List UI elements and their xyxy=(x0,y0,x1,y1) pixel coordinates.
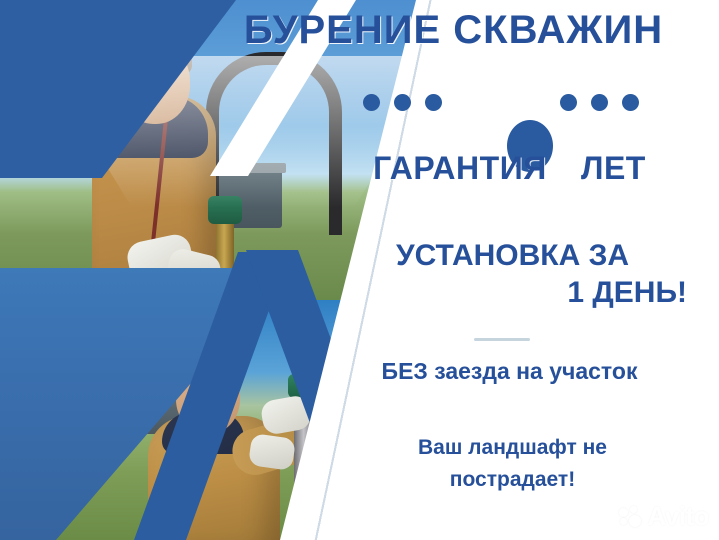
guarantee-suffix: ЛЕТ xyxy=(581,150,646,186)
text-panel: БУРЕНИЕ СКВАЖИН ГАРАНТИЯ5ЛЕТ УСТАНОВКА З… xyxy=(300,0,719,540)
photo-top-ear xyxy=(114,78,129,98)
dots-group-right xyxy=(560,94,639,111)
install-block: УСТАНОВКА ЗА 1 ДЕНЬ! xyxy=(330,238,695,311)
dot-icon xyxy=(425,94,442,111)
install-line-1: УСТАНОВКА ЗА xyxy=(396,239,629,272)
landscape-block: Ваш ландшафт не пострадает! xyxy=(340,432,685,495)
dot-icon xyxy=(394,94,411,111)
dot-icon xyxy=(622,94,639,111)
guarantee-number: 5 xyxy=(547,150,581,186)
landscape-line-2: пострадает! xyxy=(450,468,575,491)
guarantee-line: ГАРАНТИЯ5ЛЕТ xyxy=(300,150,719,187)
dots-group-left xyxy=(363,94,442,111)
avito-watermark: Avito xyxy=(619,501,709,532)
advertisement-banner: БУРЕНИЕ СКВАЖИН ГАРАНТИЯ5ЛЕТ УСТАНОВКА З… xyxy=(0,0,719,540)
dot-icon xyxy=(591,94,608,111)
dot-icon xyxy=(363,94,380,111)
photo-top-head xyxy=(120,44,190,124)
photo-bottom-head xyxy=(176,362,240,434)
avito-logo-icon xyxy=(619,506,643,528)
no-entry-line: БЕЗ заезда на участок xyxy=(300,358,719,385)
avito-watermark-text: Avito xyxy=(647,501,709,532)
install-line-2: 1 ДЕНЬ! xyxy=(330,275,695,312)
photo-top-valve xyxy=(208,196,242,224)
landscape-line-1: Ваш ландшафт не xyxy=(418,436,607,459)
section-divider xyxy=(474,338,530,341)
photo-bottom-glove-lower xyxy=(248,433,296,471)
page-title: БУРЕНИЕ СКВАЖИН xyxy=(188,8,719,53)
guarantee-prefix: ГАРАНТИЯ xyxy=(373,150,547,186)
dot-icon xyxy=(560,94,577,111)
